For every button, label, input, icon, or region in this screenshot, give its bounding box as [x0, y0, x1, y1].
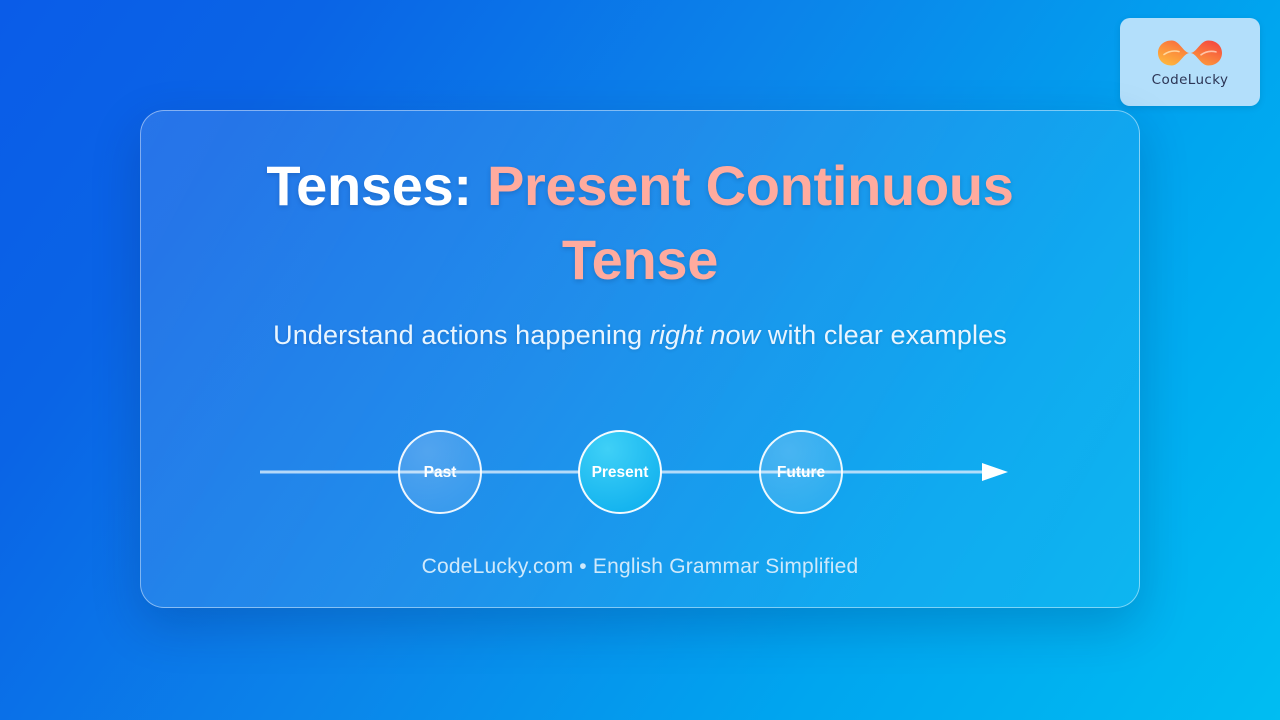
page-title: Tenses: Present Continuous Tense — [210, 149, 1070, 298]
timeline-node-past[interactable]: Past — [399, 431, 481, 513]
timeline-node-future[interactable]: Future — [760, 431, 842, 513]
title-plain: Tenses: — [266, 154, 487, 217]
title-accent: Present Continuous Tense — [487, 154, 1014, 291]
timeline-node-label: Past — [424, 464, 457, 481]
timeline-arrow-icon — [982, 463, 1008, 481]
logo-text: CodeLucky — [1152, 72, 1229, 88]
subtitle-before: Understand actions happening — [273, 320, 650, 350]
subtitle-after: with clear examples — [760, 320, 1007, 350]
infinity-icon — [1153, 36, 1227, 70]
page-subtitle: Understand actions happening right now w… — [273, 320, 1007, 351]
logo-badge[interactable]: CodeLucky — [1120, 18, 1260, 106]
hero-card: Tenses: Present Continuous Tense Underst… — [140, 110, 1140, 608]
card-footer: CodeLucky.com • English Grammar Simplifi… — [422, 555, 859, 579]
tense-timeline: Past Present Future — [260, 417, 1020, 527]
timeline-node-present[interactable]: Present — [579, 431, 661, 513]
timeline-node-label: Present — [592, 464, 649, 481]
subtitle-emphasis: right now — [650, 320, 760, 350]
timeline-node-label: Future — [777, 464, 826, 481]
